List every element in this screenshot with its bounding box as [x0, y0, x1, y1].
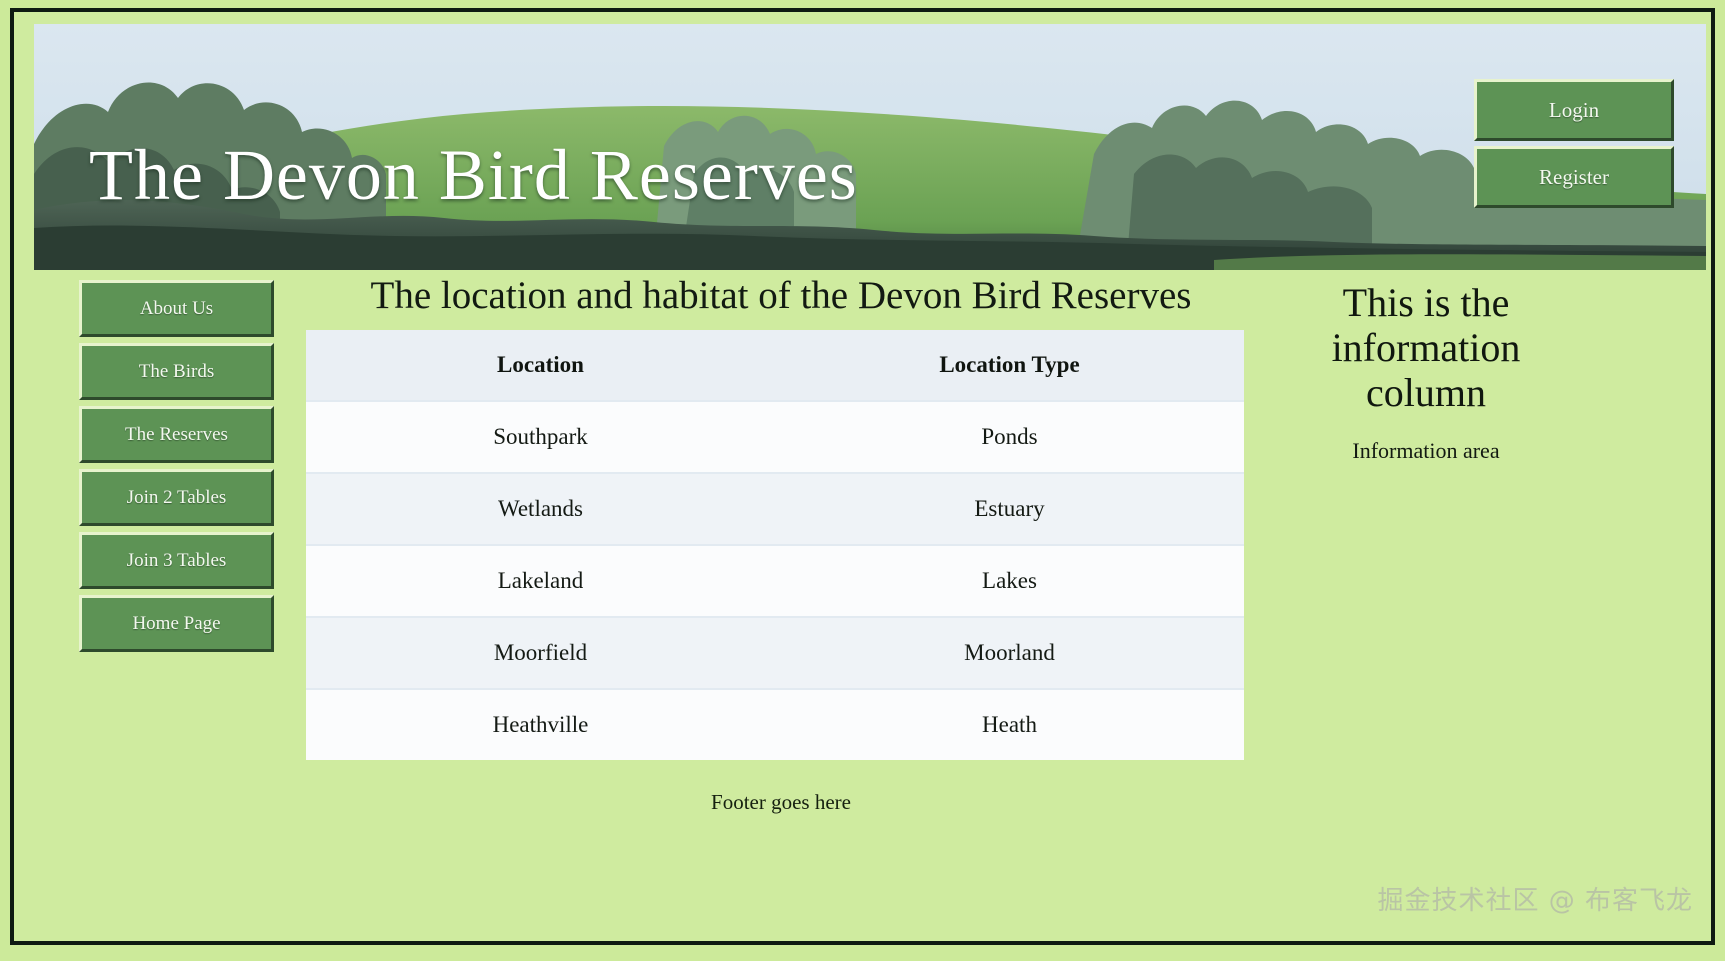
information-text: Information area — [1276, 438, 1576, 464]
table-row: Lakeland Lakes — [306, 545, 1244, 617]
cell-location-type: Lakes — [775, 545, 1244, 617]
cell-location: Heathville — [306, 689, 775, 760]
locations-table: Location Location Type Southpark Ponds W… — [306, 330, 1244, 760]
table-row: Wetlands Estuary — [306, 473, 1244, 545]
sidebar-item-about-us[interactable]: About Us — [79, 280, 274, 337]
sidebar-item-the-birds[interactable]: The Birds — [79, 343, 274, 400]
sidebar-item-join-2-tables[interactable]: Join 2 Tables — [79, 469, 274, 526]
register-button[interactable]: Register — [1474, 146, 1674, 208]
table-row: Moorfield Moorland — [306, 617, 1244, 689]
watermark: 掘金技术社区 @ 布客飞龙 — [1377, 880, 1693, 917]
cell-location-type: Heath — [775, 689, 1244, 760]
page-frame: The Devon Bird Reserves Login Register A… — [10, 8, 1715, 945]
sidebar-nav: About Us The Birds The Reserves Join 2 T… — [79, 280, 274, 658]
login-button[interactable]: Login — [1474, 79, 1674, 141]
table-head: Location Location Type — [306, 330, 1244, 401]
sidebar-item-home-page[interactable]: Home Page — [79, 595, 274, 652]
content-area: About Us The Birds The Reserves Join 2 T… — [14, 270, 1711, 941]
site-title: The Devon Bird Reserves — [89, 139, 858, 211]
cell-location-type: Estuary — [775, 473, 1244, 545]
cell-location-type: Ponds — [775, 401, 1244, 473]
site-banner: The Devon Bird Reserves Login Register — [34, 24, 1706, 270]
cell-location-type: Moorland — [775, 617, 1244, 689]
table-body: Southpark Ponds Wetlands Estuary Lakelan… — [306, 401, 1244, 760]
page-footer: Footer goes here — [306, 760, 1256, 815]
table-row: Southpark Ponds — [306, 401, 1244, 473]
information-heading: This is the information column — [1276, 280, 1576, 416]
main-column: The location and habitat of the Devon Bi… — [306, 270, 1256, 815]
column-header-location-type: Location Type — [775, 330, 1244, 401]
table-header-row: Location Location Type — [306, 330, 1244, 401]
information-column: This is the information column Informati… — [1276, 280, 1576, 464]
column-header-location: Location — [306, 330, 775, 401]
auth-buttons: Login Register — [1474, 79, 1674, 213]
sidebar-item-join-3-tables[interactable]: Join 3 Tables — [79, 532, 274, 589]
page-title: The location and habitat of the Devon Bi… — [306, 270, 1256, 330]
sidebar-item-the-reserves[interactable]: The Reserves — [79, 406, 274, 463]
cell-location: Moorfield — [306, 617, 775, 689]
table-row: Heathville Heath — [306, 689, 1244, 760]
cell-location: Southpark — [306, 401, 775, 473]
cell-location: Lakeland — [306, 545, 775, 617]
cell-location: Wetlands — [306, 473, 775, 545]
